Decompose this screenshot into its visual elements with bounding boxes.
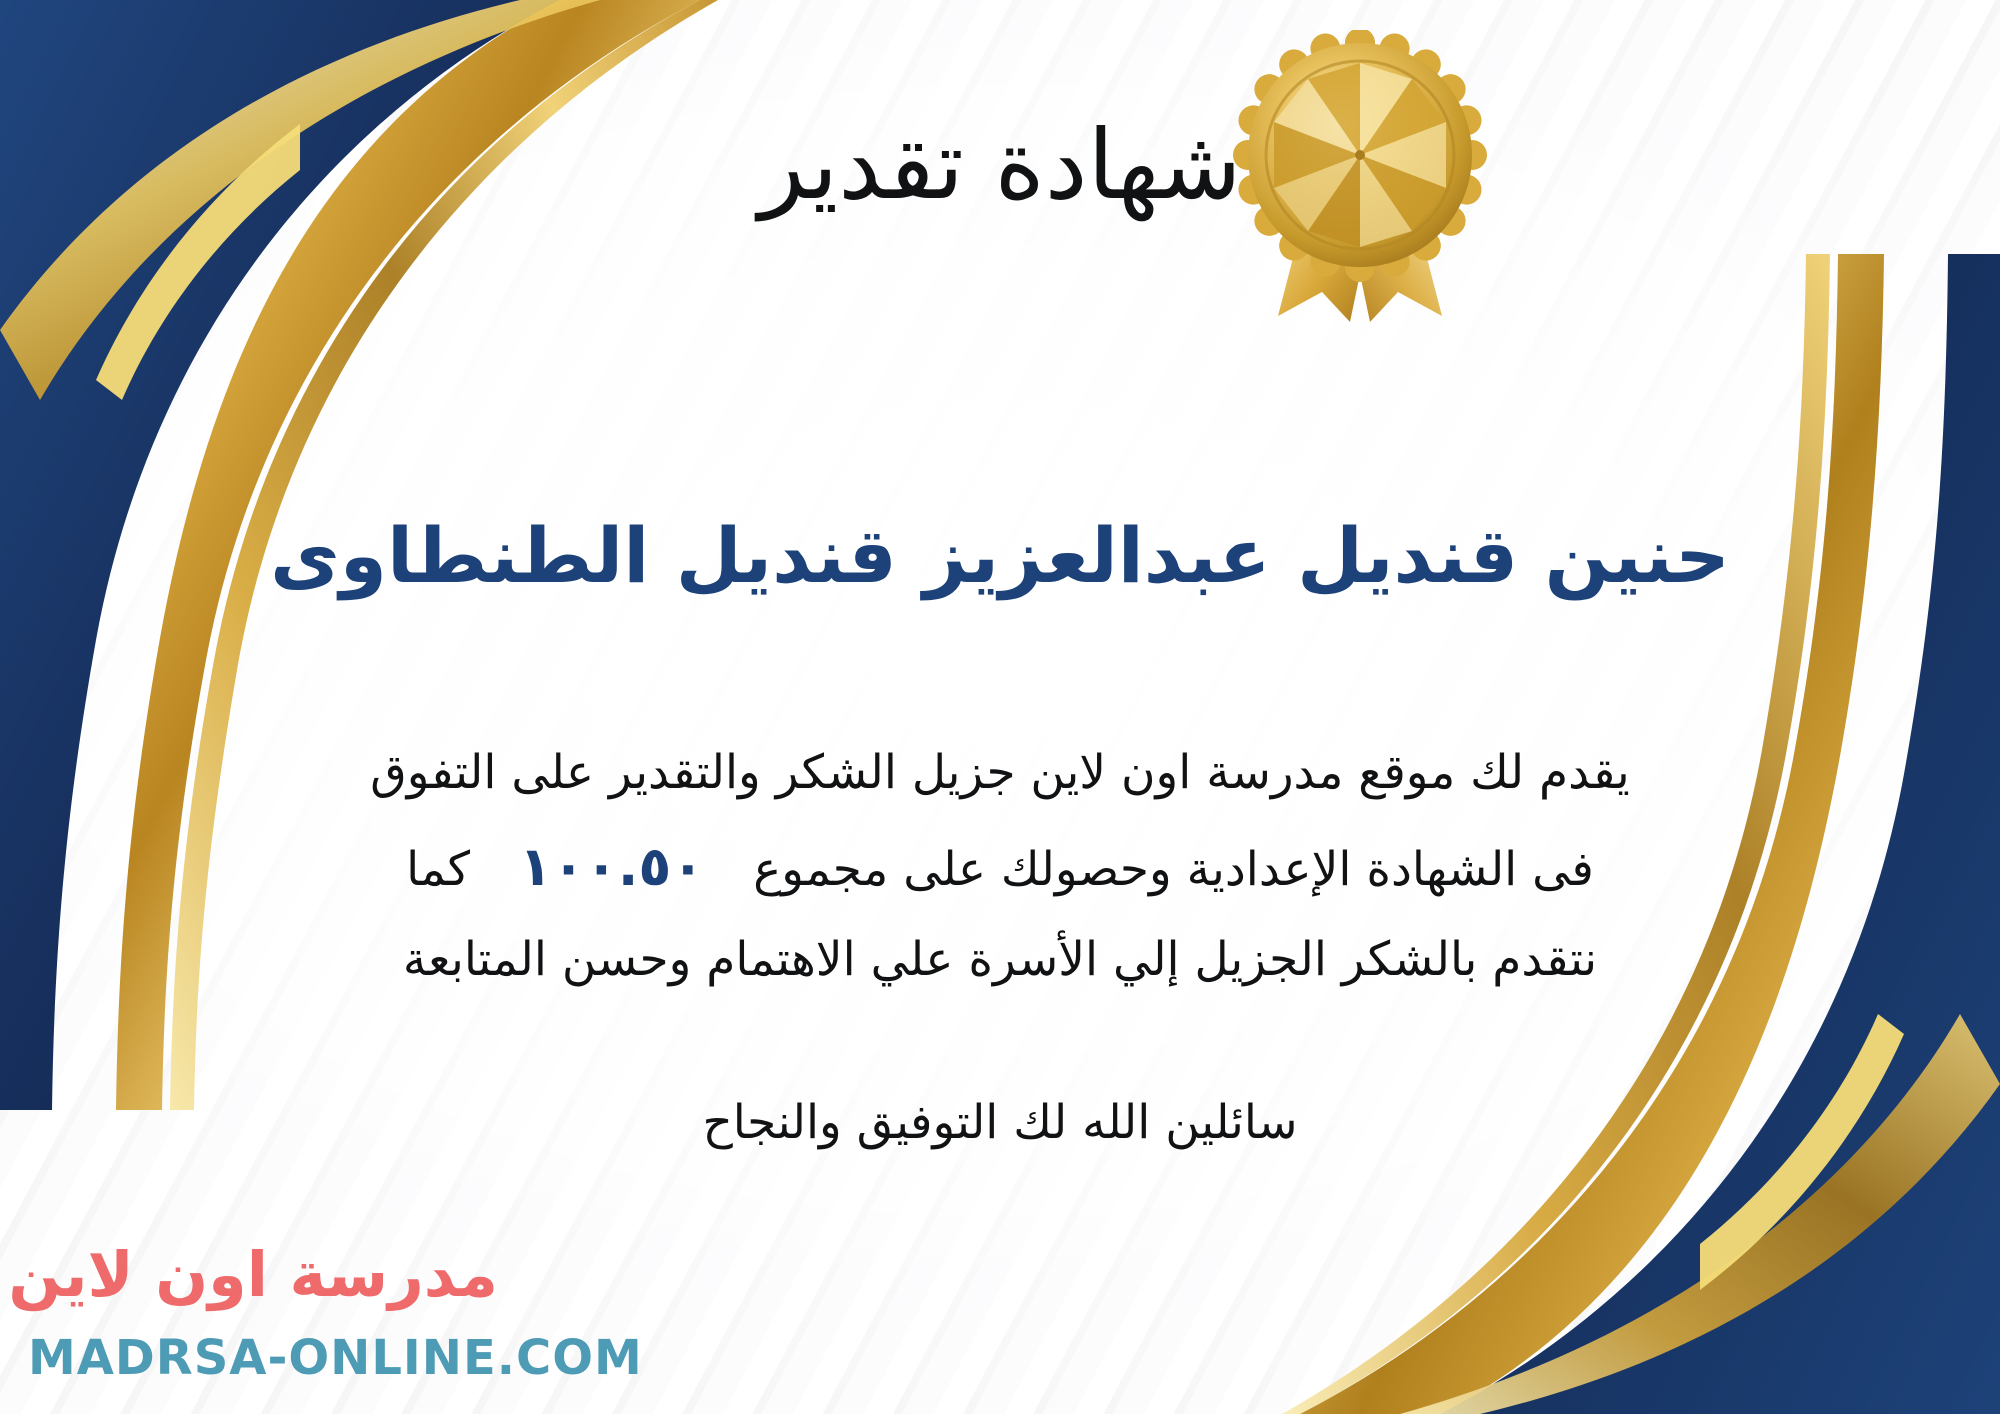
logo-arabic-name: مدرسة اون لاين	[8, 1242, 498, 1307]
logo-website-url[interactable]: MADRSA-ONLINE.COM	[28, 1330, 498, 1386]
closing-line: سائلين الله لك التوفيق والنجاح	[0, 1095, 2000, 1150]
site-logo[interactable]: مدرسة اون لاين MADRSA-ONLINE.COM	[28, 1220, 498, 1390]
body-line-1: يقدم لك موقع مدرسة اون لاين جزيل الشكر و…	[60, 730, 1940, 817]
logo-arabic-row: مدرسة اون لاين	[28, 1220, 498, 1330]
certificate-title: شهادة تقدير	[0, 110, 2000, 220]
certificate-canvas: شهادة تقدير حنين قنديل عبدالعزيز قنديل ا…	[0, 0, 2000, 1414]
body-line-2: فى الشهادة الإعدادية وحصولك على مجموع ١٠…	[60, 817, 1940, 917]
body-line-2-prefix: فى الشهادة الإعدادية وحصولك على مجموع	[753, 842, 1594, 897]
certificate-body: يقدم لك موقع مدرسة اون لاين جزيل الشكر و…	[60, 730, 1940, 1004]
body-line-2-suffix: كما	[406, 842, 470, 897]
score-value: ١٠٠.٥٠	[485, 835, 738, 898]
body-line-3: نتقدم بالشكر الجزيل إلي الأسرة علي الاهت…	[60, 917, 1940, 1004]
recipient-name: حنين قنديل عبدالعزيز قنديل الطنطاوى	[0, 510, 2000, 601]
